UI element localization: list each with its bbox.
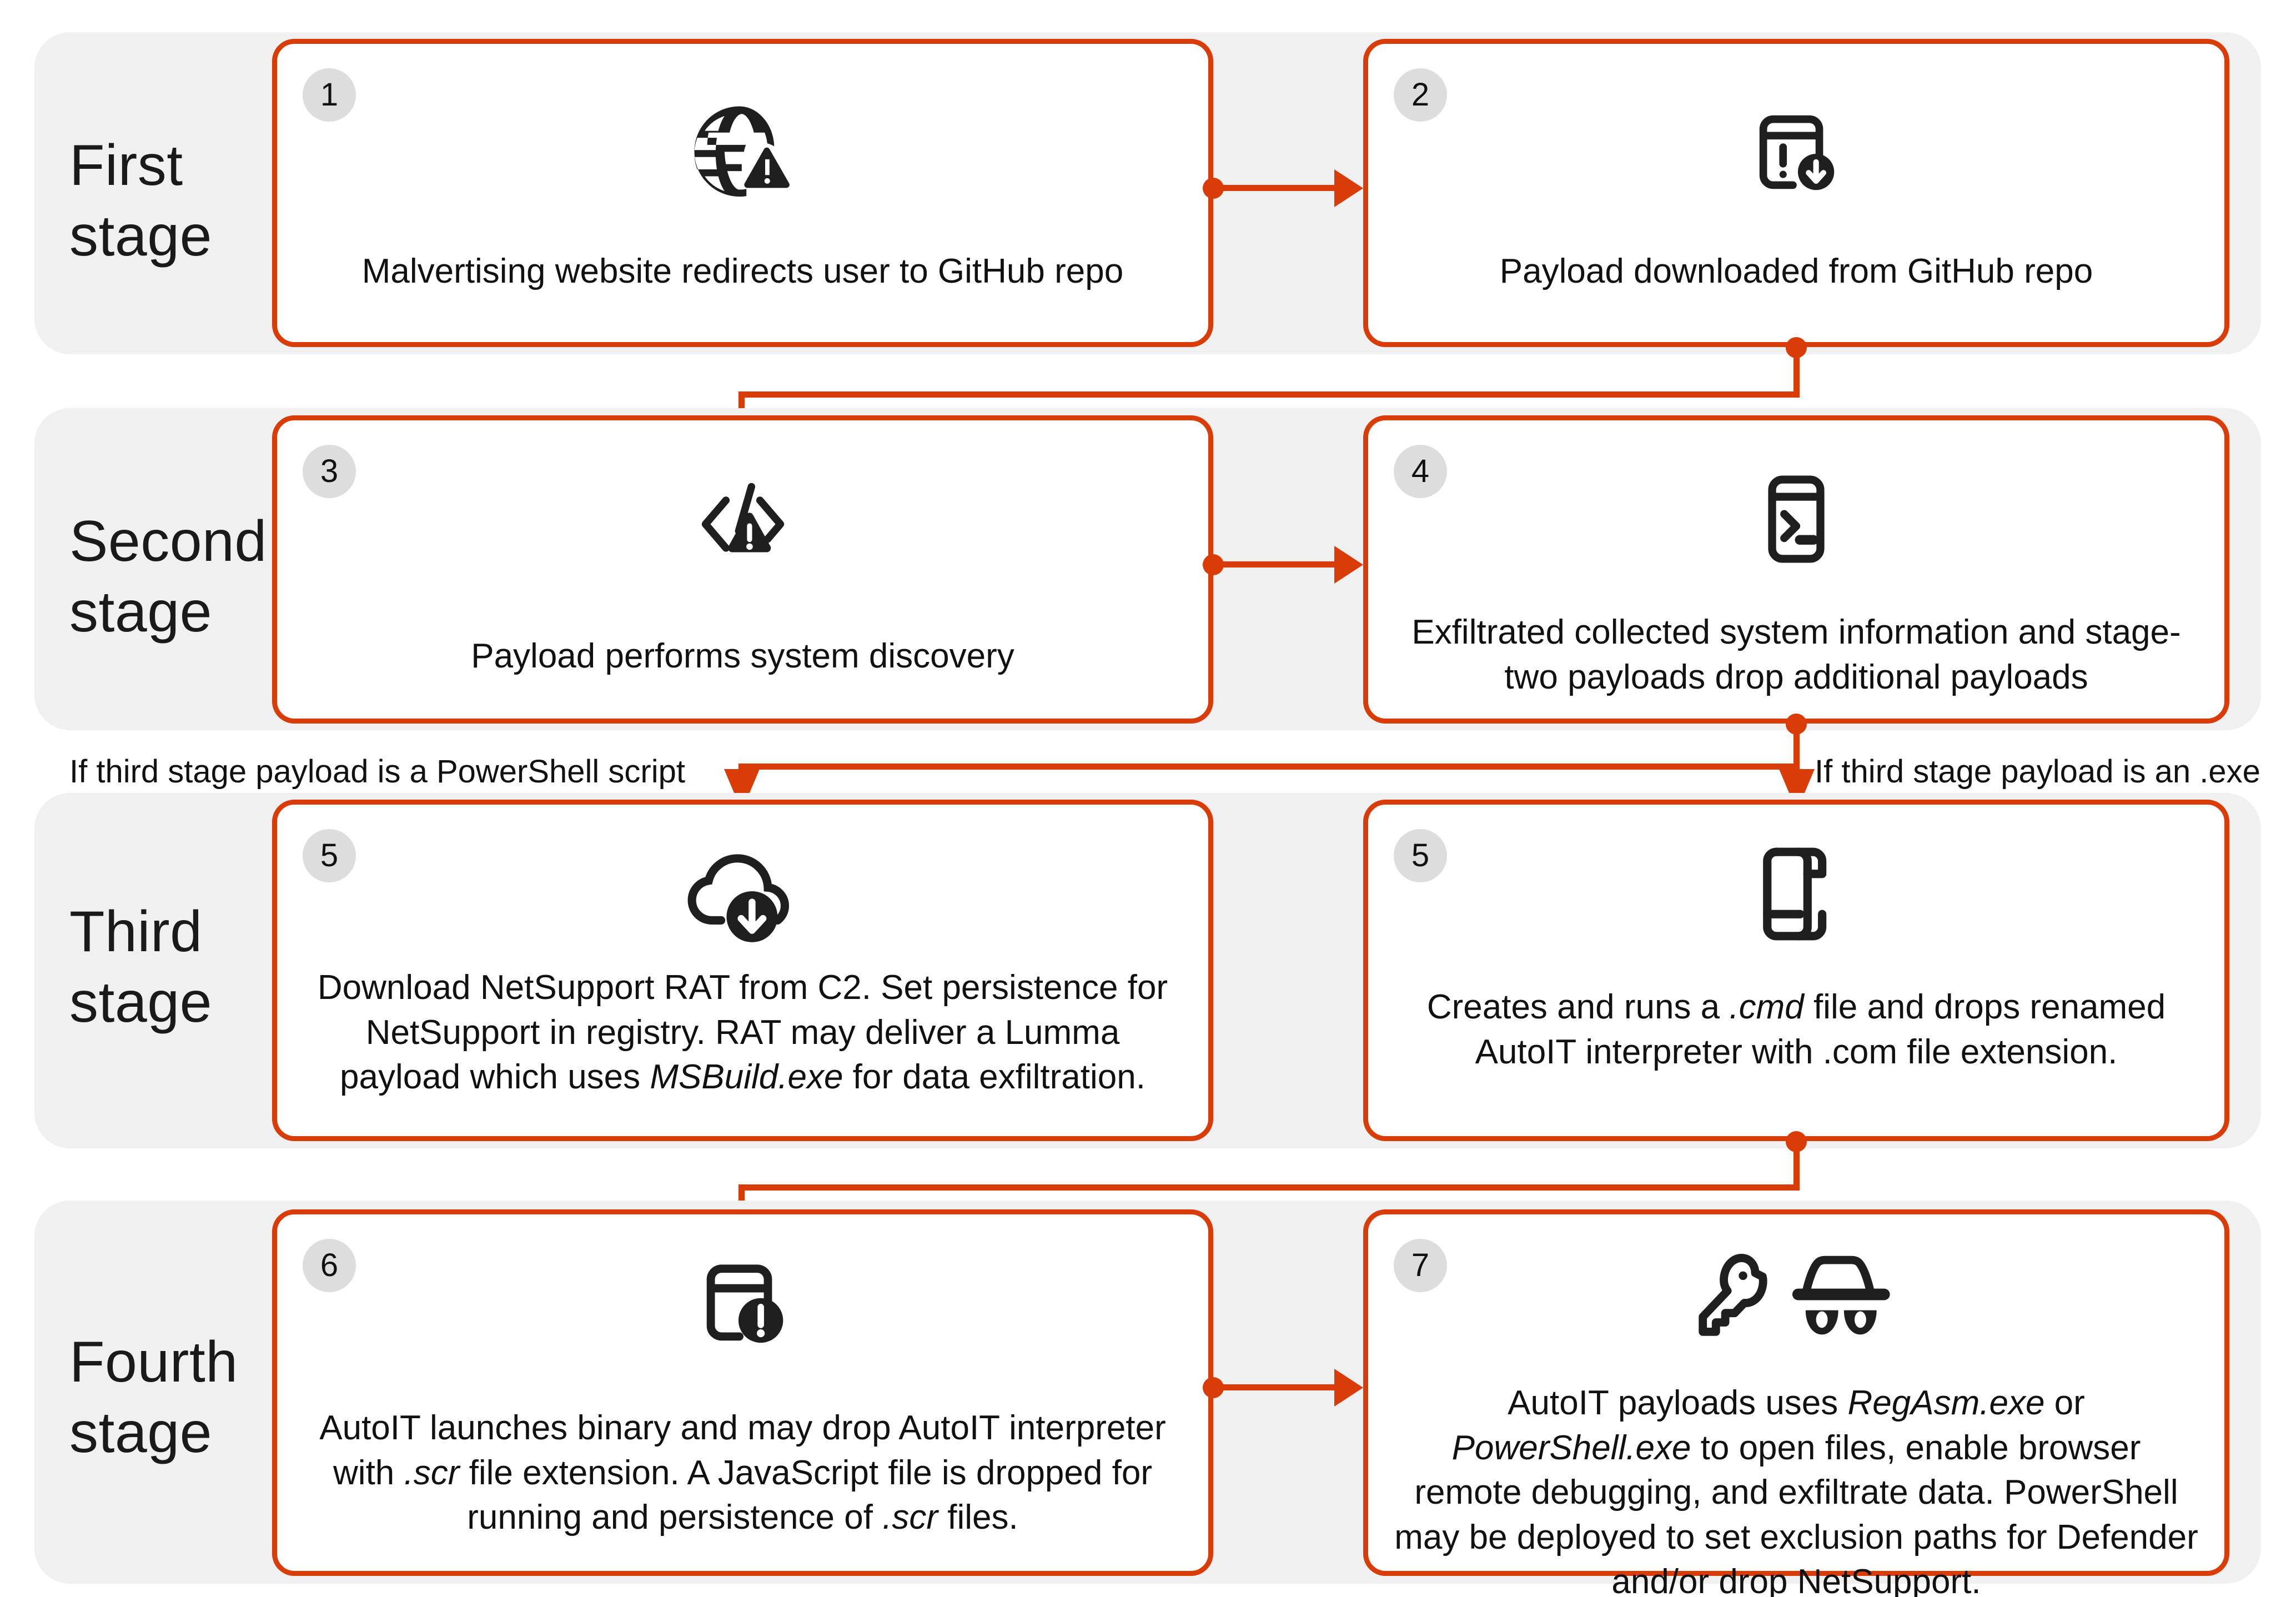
step-card-6[interactable]: 6 AutoIT launches binary and may drop Au…: [272, 1209, 1213, 1576]
step-card-2[interactable]: 2 Payload downloaded from GitHub repo: [1363, 39, 2229, 347]
stage-label-second: Second stage: [69, 506, 303, 647]
step-card-2-text: Payload downloaded from GitHub repo: [1394, 249, 2199, 294]
step-card-7[interactable]: 7 AutoIT payloads uses RegAsm.exe or Pow…: [1363, 1209, 2229, 1576]
connector-line-1-to-2: [1213, 185, 1337, 191]
branch-label-right: If third stage payload is an .exe: [1815, 752, 2260, 791]
attack-chain-diagram: First stage 1 Malvertising website redir…: [0, 0, 2296, 1597]
step-card-1-text: Malvertising website redirects user to G…: [303, 249, 1183, 294]
stage-label-fourth: Fourth stage: [69, 1327, 303, 1468]
step-card-7-text: AutoIT payloads uses RegAsm.exe or Power…: [1394, 1381, 2199, 1597]
window-download-warning-icon: [1368, 99, 2224, 205]
connector-line-2-down: [1793, 347, 1800, 394]
code-warning-icon: [277, 473, 1208, 579]
step-card-6-text: AutoIT launches binary and may drop Auto…: [303, 1406, 1183, 1540]
step-card-4-text: Exfiltrated collected system information…: [1394, 610, 2199, 700]
step-card-5-exe-text: Creates and runs a .cmd file and drops r…: [1394, 985, 2199, 1074]
globe-warning-icon: [277, 99, 1208, 210]
connector-arrow-3-to-4: [1334, 546, 1363, 584]
terminal-console-icon: [1368, 469, 2224, 569]
step-card-4[interactable]: 4 Exfiltrated collected system informati…: [1363, 415, 2229, 724]
scroll-script-icon: [1368, 845, 2224, 943]
step-card-3-text: Payload performs system discovery: [303, 634, 1183, 679]
window-warning-icon: [277, 1254, 1208, 1354]
connector-line-5-down: [1793, 1140, 1800, 1187]
step-card-5-powershell[interactable]: 5 Download NetSupport RAT from C2. Set p…: [272, 800, 1213, 1141]
connector-arrow-6-to-7: [1334, 1369, 1363, 1407]
connector-arrow-1-to-2: [1334, 169, 1363, 207]
step-card-3[interactable]: 3 Payload performs system discovery: [272, 415, 1213, 724]
connector-line-branch-horizontal: [738, 764, 1800, 770]
connector-line-2-to-3-horizontal: [738, 391, 1800, 398]
branch-label-left: If third stage payload is a PowerShell s…: [69, 752, 685, 791]
connector-line-5-to-6-horizontal: [738, 1184, 1800, 1191]
cloud-download-icon: [277, 843, 1208, 946]
key-spy-icon: [1368, 1253, 2224, 1350]
stage-label-third: Third stage: [69, 897, 269, 1038]
step-card-5-exe[interactable]: 5 Creates and runs a .cmd file and drops…: [1363, 800, 2229, 1141]
connector-line-6-to-7: [1213, 1384, 1337, 1390]
step-card-5-powershell-text: Download NetSupport RAT from C2. Set per…: [303, 966, 1183, 1100]
step-card-1[interactable]: 1 Malvertising website redirects user to…: [272, 39, 1213, 347]
stage-label-first: First stage: [69, 130, 253, 272]
connector-line-3-to-4: [1213, 561, 1337, 568]
